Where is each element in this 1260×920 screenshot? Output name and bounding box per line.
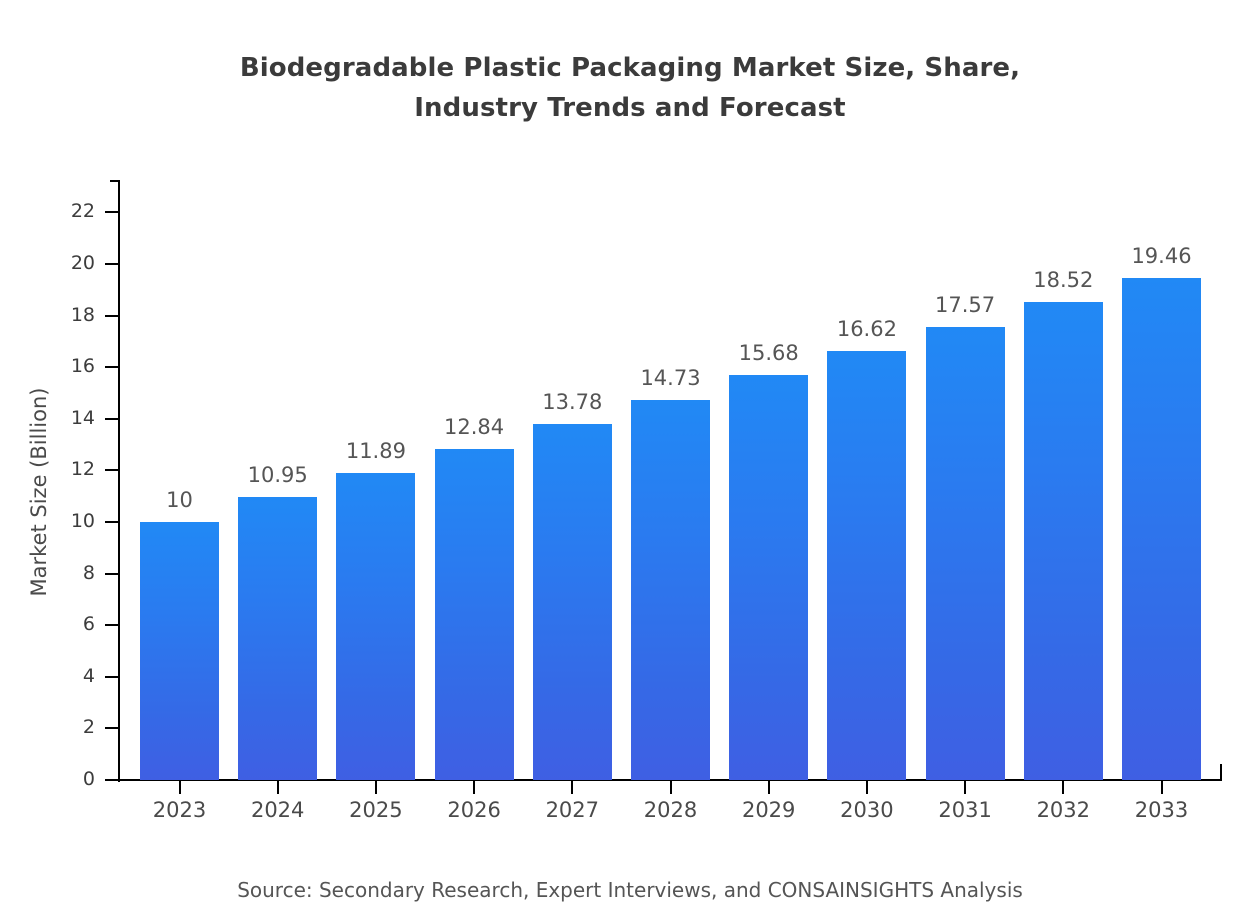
y-axis-top-cap [118,180,120,196]
bar[interactable] [336,473,415,780]
bar-value-label: 15.68 [699,343,839,364]
y-axis-spine [118,180,120,782]
x-axis-tick [277,781,279,794]
bar-value-label: 16.62 [797,319,937,340]
bar-value-label: 17.57 [895,295,1035,316]
x-axis-tick [768,781,770,794]
bar[interactable] [926,327,1005,780]
y-axis-tick [105,676,118,678]
x-axis-tick [670,781,672,794]
bar-value-label: 18.52 [993,270,1133,291]
x-axis-tick [1161,781,1163,794]
bar[interactable] [827,351,906,780]
y-axis-tick [105,263,118,265]
bar-value-label: 10.95 [208,465,348,486]
bar[interactable] [1122,278,1201,780]
x-axis-tick [1062,781,1064,794]
bar[interactable] [435,449,514,780]
y-axis-tick [105,779,118,781]
bar-value-label: 10 [110,490,250,511]
x-axis-tick-label: 2033 [1102,798,1222,822]
y-axis-tick [105,315,118,317]
y-axis-tick [105,469,118,471]
y-axis-top-tick [110,180,120,182]
y-axis-tick [105,418,118,420]
bar-value-label: 13.78 [502,392,642,413]
y-axis-title: Market Size (Billion) [27,352,51,632]
y-axis-tick-label: 22 [35,202,95,221]
x-axis-tick [866,781,868,794]
bar-value-label: 19.46 [1092,246,1232,267]
x-axis-tick [473,781,475,794]
x-axis-tick [375,781,377,794]
y-axis-tick [105,624,118,626]
y-axis-tick-label: 18 [35,306,95,325]
bar[interactable] [631,400,710,780]
x-axis-tick [179,781,181,794]
bar-value-label: 12.84 [404,417,544,438]
y-axis-tick [105,211,118,213]
x-axis-tick [964,781,966,794]
y-axis-tick [105,521,118,523]
source-note: Source: Secondary Research, Expert Inter… [0,878,1260,902]
bar[interactable] [238,497,317,780]
bar[interactable] [533,424,612,780]
y-axis-tick [105,366,118,368]
bar[interactable] [1024,302,1103,780]
x-axis-end-cap [1220,764,1222,780]
bar-value-label: 14.73 [601,368,741,389]
bar[interactable] [140,522,219,780]
y-axis-tick [105,573,118,575]
x-axis-tick [571,781,573,794]
y-axis-tick-label: 20 [35,254,95,273]
y-axis-tick-label: 2 [35,718,95,737]
bar-chart-plot-area: 0246810121416182022 20232024202520262027… [0,0,1260,920]
y-axis-tick-label: 0 [35,770,95,789]
bar-value-label: 11.89 [306,441,446,462]
y-axis-tick [105,727,118,729]
y-axis-tick-label: 4 [35,667,95,686]
bar[interactable] [729,375,808,780]
